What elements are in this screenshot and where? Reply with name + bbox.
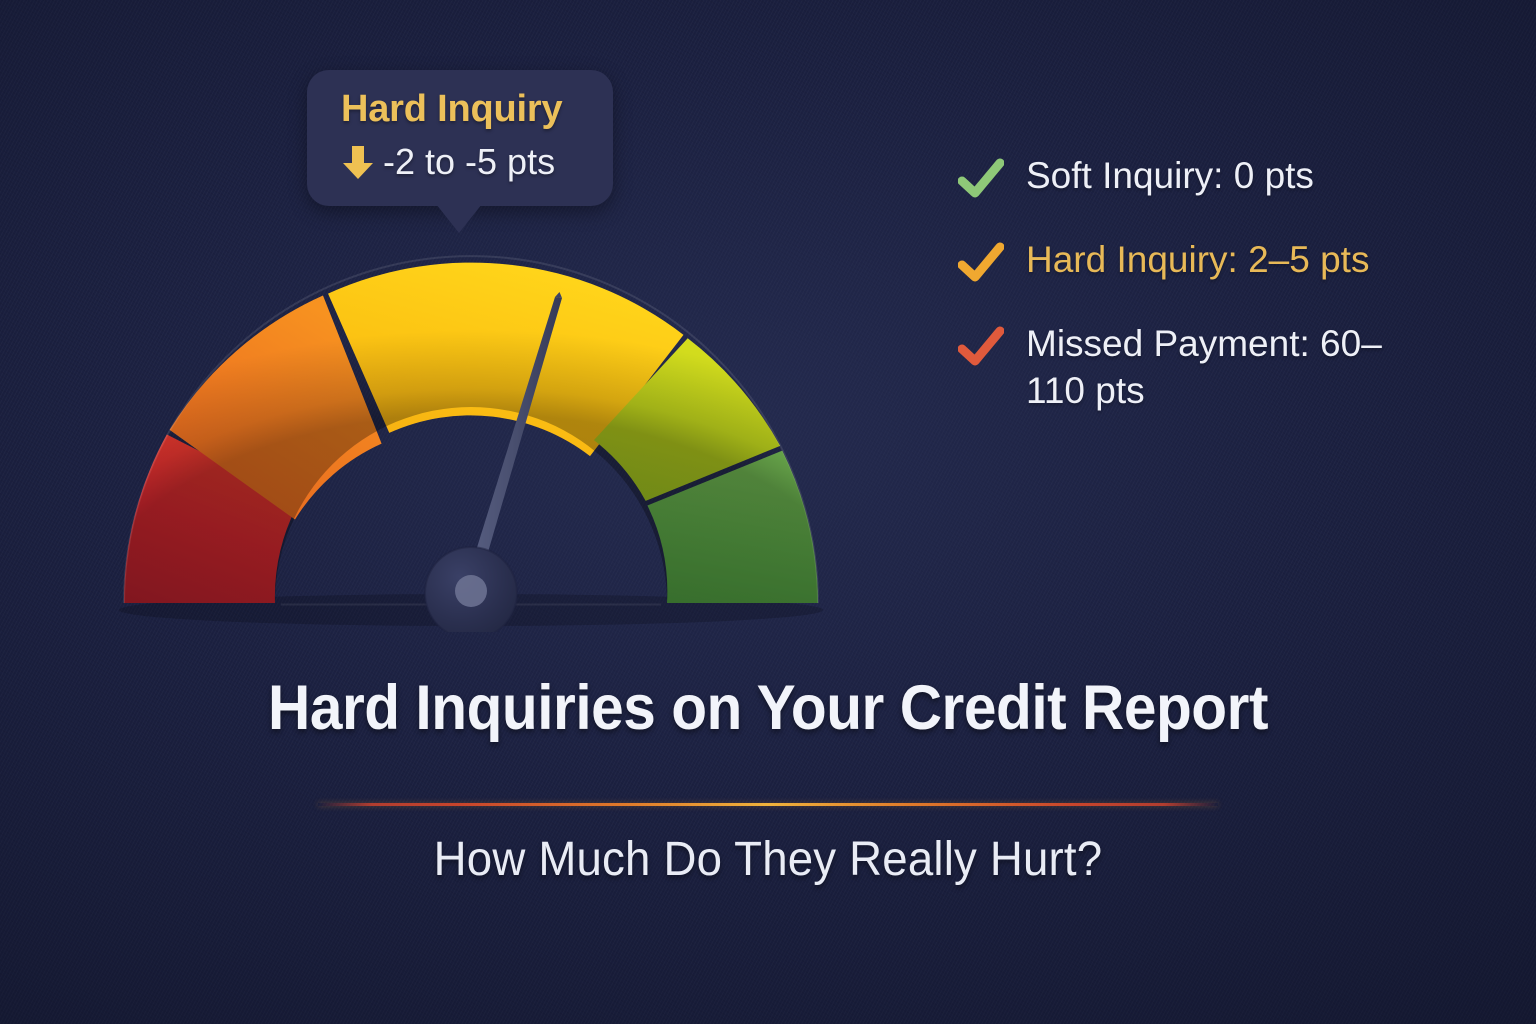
page-subtitle: How Much Do They Really Hurt? — [38, 832, 1497, 887]
arrow-down-icon — [341, 144, 375, 180]
page-title: Hard Inquiries on Your Credit Report — [54, 672, 1482, 744]
callout-pointer — [436, 204, 482, 233]
legend-item-hard-inquiry: Hard Inquiry: 2–5 pts — [958, 236, 1478, 286]
legend-item-missed-payment: Missed Payment: 60–110 pts — [958, 320, 1478, 415]
legend-label-soft-inquiry: Soft Inquiry: 0 pts — [1026, 152, 1314, 199]
callout-title: Hard Inquiry — [341, 90, 613, 128]
check-icon — [958, 242, 1004, 286]
check-icon — [958, 326, 1004, 370]
gauge-svg — [96, 212, 856, 632]
legend-label-hard-inquiry: Hard Inquiry: 2–5 pts — [1026, 236, 1369, 283]
infographic-canvas: Hard Inquiry -2 to -5 pts Soft Inquiry: … — [0, 0, 1536, 1024]
credit-score-gauge — [96, 212, 856, 632]
legend-label-missed-payment: Missed Payment: 60–110 pts — [1026, 320, 1416, 415]
title-divider — [318, 803, 1218, 806]
gauge-hub — [425, 547, 517, 632]
check-icon — [958, 158, 1004, 202]
callout-value: -2 to -5 pts — [383, 144, 555, 180]
callout-value-row: -2 to -5 pts — [341, 144, 613, 180]
legend-item-soft-inquiry: Soft Inquiry: 0 pts — [958, 152, 1478, 202]
impact-legend: Soft Inquiry: 0 pts Hard Inquiry: 2–5 pt… — [958, 152, 1478, 449]
hard-inquiry-callout: Hard Inquiry -2 to -5 pts — [307, 70, 613, 206]
